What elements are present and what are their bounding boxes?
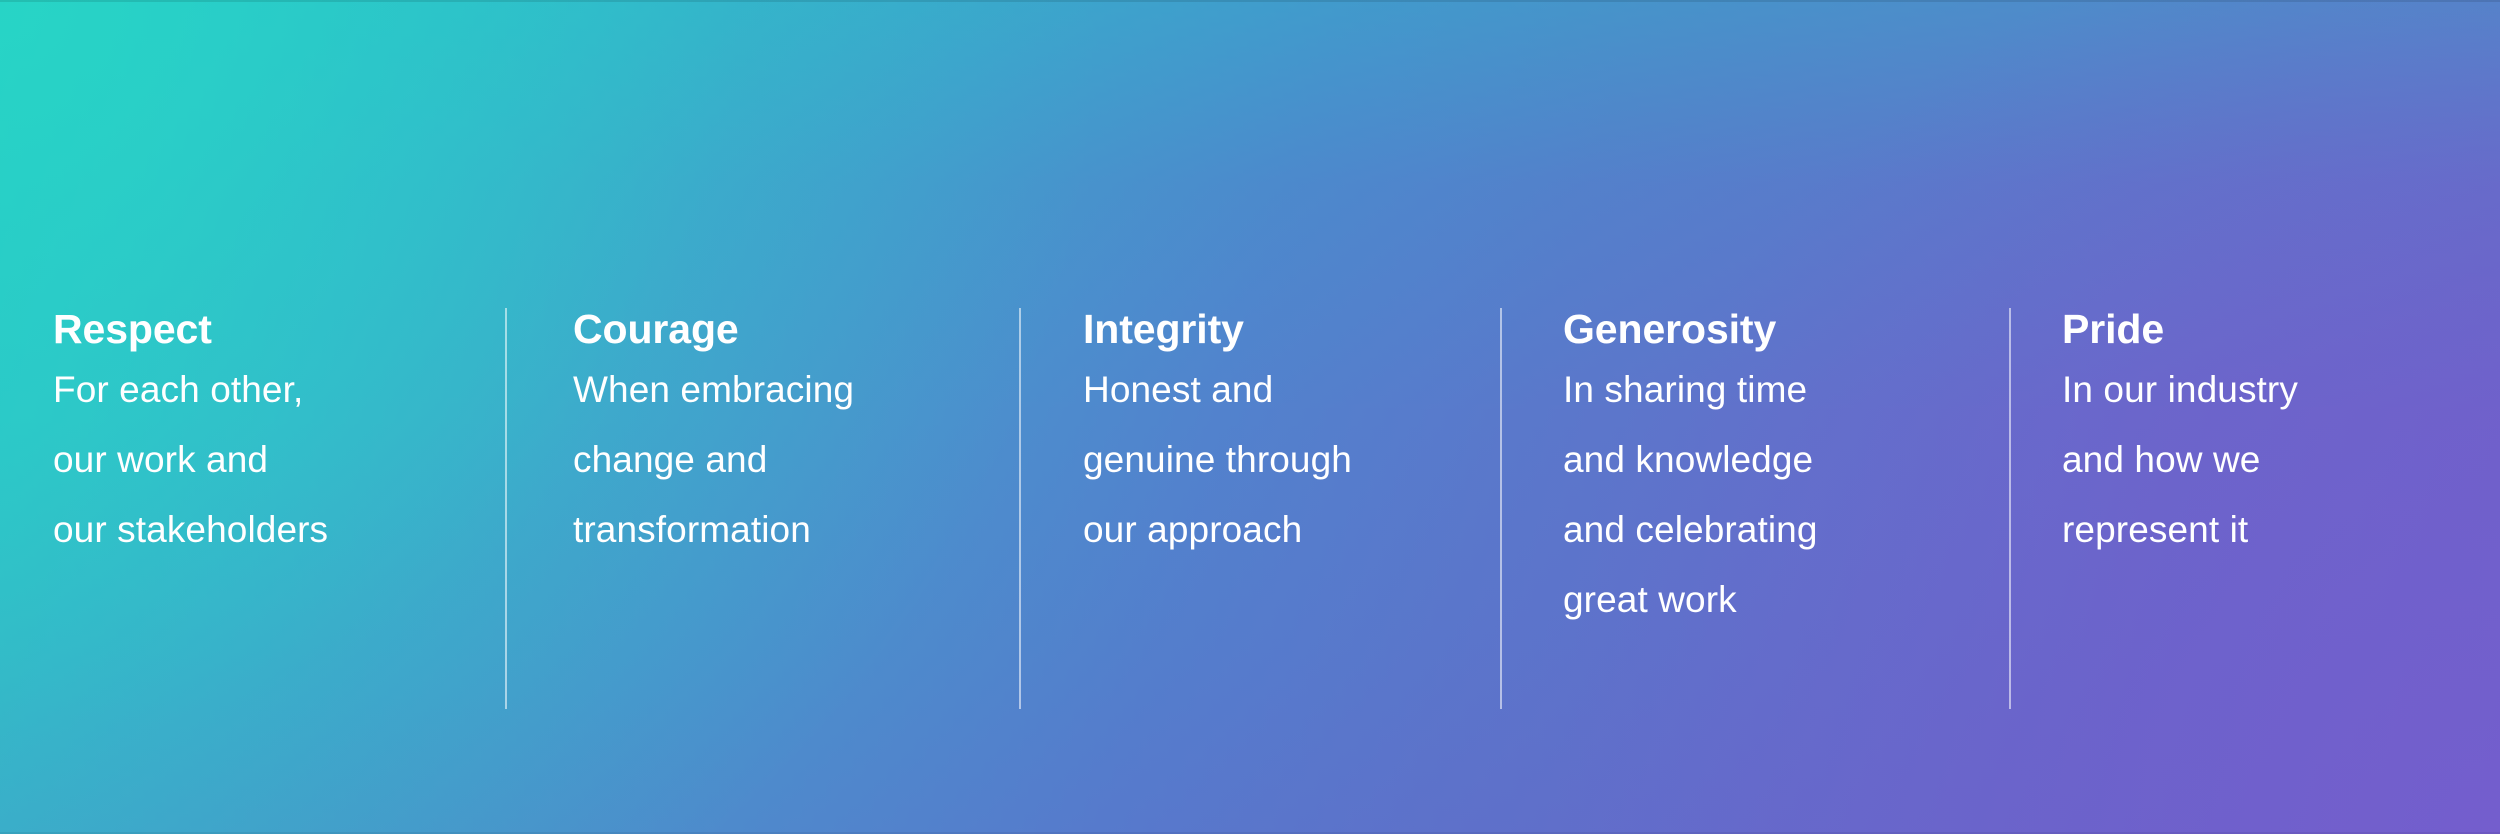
- value-description-line: In our industry: [2062, 355, 2298, 425]
- value-title-integrity: Integrity: [1083, 303, 1352, 355]
- value-description-line: our stakeholders: [53, 495, 328, 565]
- value-description-line: our work and: [53, 425, 328, 495]
- value-description-line: genuine through: [1083, 425, 1352, 495]
- column-divider-4: [2009, 308, 2011, 709]
- value-description-line: and how we: [2062, 425, 2298, 495]
- column-divider-2: [1019, 308, 1021, 709]
- value-title-pride: Pride: [2062, 303, 2298, 355]
- value-title-respect: Respect: [53, 303, 328, 355]
- value-column-pride: Pride In our industry and how we represe…: [2062, 303, 2298, 565]
- value-description-line: and celebrating: [1563, 495, 1818, 565]
- value-description-line: Honest and: [1083, 355, 1352, 425]
- value-description-line: When embracing: [573, 355, 854, 425]
- value-description-line: transformation: [573, 495, 854, 565]
- value-description-line: and knowledge: [1563, 425, 1818, 495]
- value-title-generosity: Generosity: [1563, 303, 1818, 355]
- company-values-banner: Respect For each other, our work and our…: [0, 0, 2500, 834]
- value-description-courage: When embracing change and transformation: [573, 355, 854, 565]
- value-column-respect: Respect For each other, our work and our…: [53, 303, 328, 565]
- value-description-line: great work: [1563, 565, 1818, 635]
- value-description-integrity: Honest and genuine through our approach: [1083, 355, 1352, 565]
- value-description-line: change and: [573, 425, 854, 495]
- value-title-courage: Courage: [573, 303, 854, 355]
- value-description-generosity: In sharing time and knowledge and celebr…: [1563, 355, 1818, 635]
- value-description-line: For each other,: [53, 355, 328, 425]
- value-description-line: our approach: [1083, 495, 1352, 565]
- values-column-list: Respect For each other, our work and our…: [0, 0, 2500, 834]
- column-divider-1: [505, 308, 507, 709]
- value-description-respect: For each other, our work and our stakeho…: [53, 355, 328, 565]
- value-column-courage: Courage When embracing change and transf…: [573, 303, 854, 565]
- column-divider-3: [1500, 308, 1502, 709]
- value-column-integrity: Integrity Honest and genuine through our…: [1083, 303, 1352, 565]
- value-column-generosity: Generosity In sharing time and knowledge…: [1563, 303, 1818, 635]
- value-description-pride: In our industry and how we represent it: [2062, 355, 2298, 565]
- value-description-line: represent it: [2062, 495, 2298, 565]
- value-description-line: In sharing time: [1563, 355, 1818, 425]
